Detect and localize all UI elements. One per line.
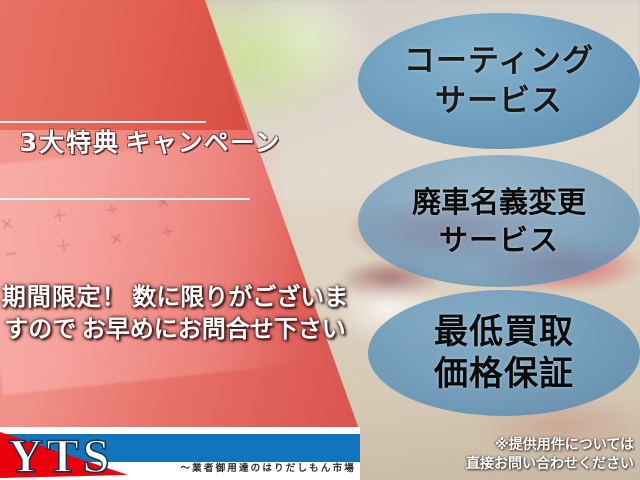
service-bubble-price-guarantee: 最低買取 価格保証 [368,290,640,416]
promo-line-1: 期間限定！ [2,283,127,311]
headline-line-2: キャンペーン [126,128,281,157]
bubble-1-line-1: コーティング [404,41,594,81]
poster-canvas: × ＋ ÷ × − ＋ × ÷ 3大特典 キャンペーン 期間限定！ 数に限りがご… [0,0,640,480]
bubble-3-line-1: 最低買取 [434,311,574,353]
logo-wordmark: YTS [8,429,113,480]
disclaimer-line-2: 直接お問い合わせください [466,456,634,472]
disclaimer-line-1: ※提供用件については [495,437,634,453]
headline-line-1: 3大特典 [20,128,120,157]
logo-bar: YTS 〜業者御用達のはりだしもん市場 [0,427,360,480]
promo-message: 期間限定！ 数に限りがございますので お早めにお問合せ下さい [0,281,350,345]
promo-line-3: お早めにお問合せ下さい [82,315,346,343]
service-bubble-coating: コーティング サービス [358,13,640,149]
service-bubble-scrap-title-transfer: 廃車名義変更 サービス [358,155,640,287]
headline-rule-bottom [0,198,250,200]
bubble-1-line-2: サービス [435,81,563,121]
bubble-2-line-1: 廃車名義変更 [412,183,586,221]
bubble-3-line-2: 価格保証 [434,353,574,395]
campaign-headline: 3大特典 キャンペーン [0,126,300,160]
bubble-2-line-2: サービス [439,221,559,259]
disclaimer-note: ※提供用件については 直接お問い合わせください [384,436,634,474]
logo-tagline: 〜業者御用達のはりだしもん市場 [180,460,356,474]
headline-rule-top [0,121,206,123]
